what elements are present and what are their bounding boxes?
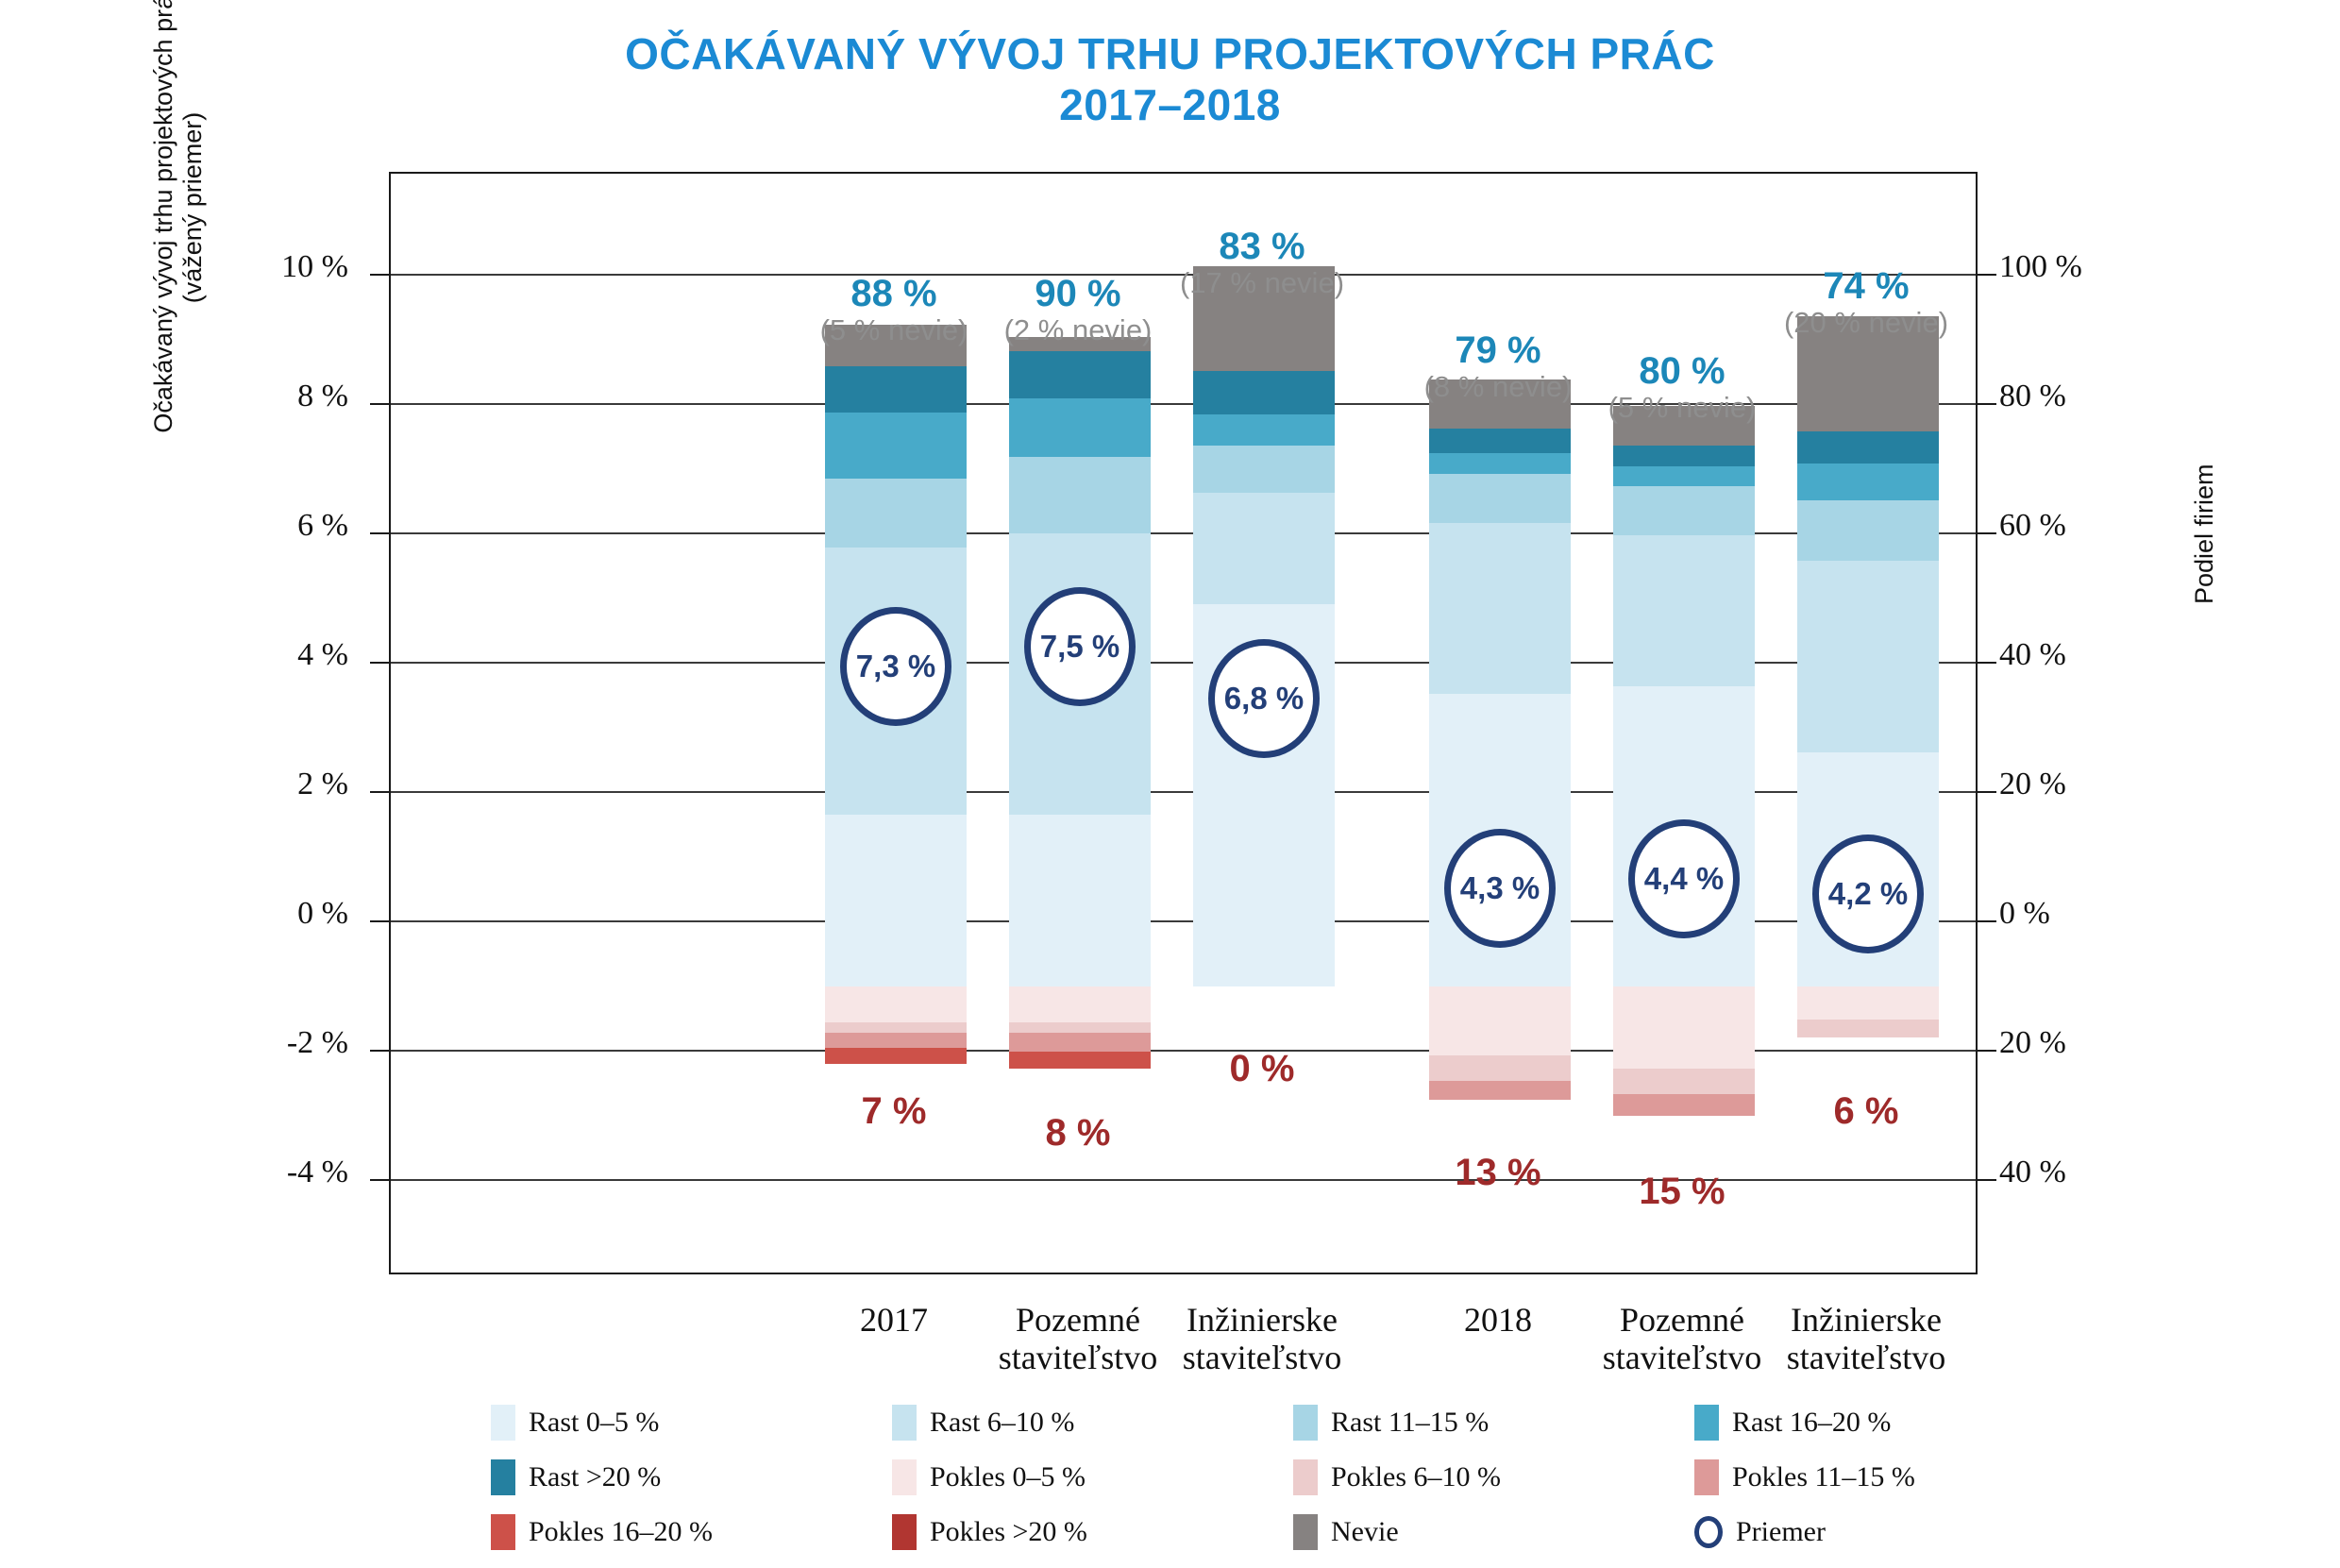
- x-axis-label-line1-5: Inžinierske: [1706, 1301, 2027, 1339]
- tick-right-2: [1976, 532, 1996, 534]
- growth-total-5: 74 %: [1696, 266, 2036, 307]
- legend-label: Pokles 16–20 %: [529, 1516, 713, 1548]
- y-axis-right-tick-3: 40 %: [1999, 637, 2207, 673]
- y-axis-left-tick-1: 8 %: [160, 379, 348, 414]
- tick-right-3: [1976, 662, 1996, 664]
- legend-label: Nevie: [1331, 1516, 1399, 1548]
- y-axis-right-tick-6: 20 %: [1999, 1025, 2207, 1061]
- bar-segment-rast-nad-20[interactable]: [825, 366, 967, 413]
- legend-swatch-icon: [491, 1405, 515, 1441]
- legend-item-pokles-16-20[interactable]: Pokles 16–20 %: [491, 1514, 892, 1550]
- legend-label: Priemer: [1736, 1516, 1826, 1548]
- tick-right-7: [1976, 1179, 1996, 1181]
- tick-left-3: [370, 662, 391, 664]
- bar-segment-pokles-16-20[interactable]: [825, 1048, 967, 1064]
- legend-label: Rast 16–20 %: [1732, 1407, 1891, 1439]
- bar-segment-pokles-0-5[interactable]: [825, 986, 967, 1022]
- bar-segment-pokles-0-5[interactable]: [1797, 986, 1939, 1020]
- legend-item-average-ring[interactable]: Priemer: [1694, 1514, 2096, 1550]
- tick-right-5: [1976, 920, 1996, 922]
- tick-right-1: [1976, 403, 1996, 405]
- y-axis-right-tick-2: 60 %: [1999, 508, 2207, 544]
- bar-segment-rast-nad-20[interactable]: [1009, 351, 1151, 398]
- x-axis-label-5: Inžinierskestaviteľstvo: [1706, 1301, 2027, 1377]
- legend-swatch-icon: [1293, 1514, 1318, 1550]
- legend-item-pokles-6-10[interactable]: Pokles 6–10 %: [1293, 1459, 1694, 1495]
- bar-segment-rast-11-15[interactable]: [1429, 474, 1571, 523]
- chart-legend: Rast 0–5 %Rast 6–10 %Rast 11–15 %Rast 16…: [491, 1405, 2096, 1550]
- bar-segment-pokles-0-5[interactable]: [1613, 986, 1755, 1069]
- nevie-note-4: (5 % nevie): [1512, 392, 1852, 423]
- y-axis-left-tick-5: 0 %: [160, 896, 348, 932]
- title-block: OČAKÁVANÝ VÝVOJ TRHU PROJEKTOVÝCH PRÁC 2…: [0, 28, 2340, 131]
- bar-segment-rast-6-10[interactable]: [1613, 535, 1755, 686]
- bar-segment-rast-11-15[interactable]: [1613, 486, 1755, 535]
- legend-item-pokles-11-15[interactable]: Pokles 11–15 %: [1694, 1459, 2096, 1495]
- growth-total-2: 83 %: [1092, 227, 1432, 267]
- x-axis-label-line2-5: staviteľstvo: [1706, 1339, 2027, 1376]
- tick-left-2: [370, 532, 391, 534]
- bar-segment-rast-6-10[interactable]: [1193, 493, 1335, 604]
- legend-item-rast-16-20[interactable]: Rast 16–20 %: [1694, 1405, 2096, 1441]
- x-axis-label-line2-2: staviteľstvo: [1102, 1339, 1423, 1376]
- bar-segment-rast-11-15[interactable]: [825, 479, 967, 548]
- bar-segment-pokles-6-10[interactable]: [825, 1022, 967, 1033]
- bar-segment-rast-16-20[interactable]: [1429, 453, 1571, 474]
- bar-segment-rast-nad-20[interactable]: [1193, 371, 1335, 414]
- decline-total-1: 8 %: [927, 1112, 1229, 1155]
- y-axis-right-tick-7: 40 %: [1999, 1155, 2207, 1190]
- tick-left-7: [370, 1179, 391, 1181]
- legend-item-rast-0-5[interactable]: Rast 0–5 %: [491, 1405, 892, 1441]
- bar-segment-rast-11-15[interactable]: [1009, 457, 1151, 533]
- decline-total-4: 15 %: [1531, 1171, 1833, 1213]
- bar-segment-rast-16-20[interactable]: [1193, 414, 1335, 446]
- legend-swatch-icon: [1293, 1459, 1318, 1495]
- bar-segment-rast-16-20[interactable]: [1797, 464, 1939, 500]
- legend-label: Pokles 0–5 %: [930, 1461, 1086, 1493]
- growth-total-4: 80 %: [1512, 351, 1852, 392]
- average-marker-3[interactable]: 4,3 %: [1444, 829, 1556, 948]
- legend-item-rast-nad-20[interactable]: Rast >20 %: [491, 1459, 892, 1495]
- nevie-note-1: (2 % nevie): [908, 314, 1248, 346]
- bar-segment-rast-6-10[interactable]: [1797, 561, 1939, 752]
- y-axis-left-tick-3: 4 %: [160, 637, 348, 673]
- y-axis-left-tick-4: 2 %: [160, 767, 348, 802]
- bar-segment-rast-16-20[interactable]: [825, 413, 967, 479]
- bar-segment-rast-6-10[interactable]: [1429, 523, 1571, 694]
- bar-segment-pokles-6-10[interactable]: [1429, 1055, 1571, 1081]
- legend-swatch-icon: [1694, 1405, 1719, 1441]
- legend-swatch-icon: [1694, 1459, 1719, 1495]
- y-axis-left-tick-0: 10 %: [160, 249, 348, 285]
- chart-title: OČAKÁVANÝ VÝVOJ TRHU PROJEKTOVÝCH PRÁC: [0, 28, 2340, 79]
- bar-segment-rast-0-5[interactable]: [1009, 815, 1151, 986]
- y-axis-right-tick-5: 0 %: [1999, 896, 2207, 932]
- legend-swatch-icon: [1293, 1405, 1318, 1441]
- y-axis-title-left-line1: Očakávaný vývoj trhu projektových prác: [149, 0, 177, 433]
- nevie-note-2: (17 % nevie): [1092, 267, 1432, 298]
- legend-item-rast-11-15[interactable]: Rast 11–15 %: [1293, 1405, 1694, 1441]
- bar-segment-pokles-0-5[interactable]: [1429, 986, 1571, 1055]
- tick-right-6: [1976, 1050, 1996, 1052]
- bar-segment-pokles-6-10[interactable]: [1009, 1022, 1151, 1033]
- y-axis-left-tick-7: -4 %: [160, 1155, 348, 1190]
- bar-segment-pokles-6-10[interactable]: [1797, 1020, 1939, 1037]
- legend-swatch-icon: [491, 1514, 515, 1550]
- legend-label: Rast 6–10 %: [930, 1407, 1074, 1439]
- bar-segment-rast-16-20[interactable]: [1613, 466, 1755, 486]
- average-marker-2[interactable]: 6,8 %: [1208, 639, 1320, 758]
- legend-swatch-icon: [892, 1405, 917, 1441]
- bar-segment-pokles-0-5[interactable]: [1009, 986, 1151, 1022]
- tick-left-0: [370, 274, 391, 276]
- legend-label: Pokles >20 %: [930, 1516, 1087, 1548]
- bar-segment-rast-nad-20[interactable]: [1797, 431, 1939, 464]
- legend-label: Rast >20 %: [529, 1461, 661, 1493]
- bar-segment-pokles-11-15[interactable]: [1429, 1081, 1571, 1100]
- legend-label: Rast 11–15 %: [1331, 1407, 1489, 1439]
- legend-swatch-icon: [892, 1459, 917, 1495]
- tick-left-1: [370, 403, 391, 405]
- growth-annotation-2: 83 %(17 % nevie): [1092, 227, 1432, 299]
- y-axis-right-tick-4: 20 %: [1999, 767, 2207, 802]
- y-axis-left-tick-6: -2 %: [160, 1025, 348, 1061]
- growth-annotation-5: 74 %(20 % nevie): [1696, 266, 2036, 339]
- legend-swatch-icon: [892, 1514, 917, 1550]
- bar-segment-rast-nad-20[interactable]: [1429, 429, 1571, 453]
- decline-total-2: 0 %: [1111, 1048, 1413, 1090]
- legend-swatch-icon: [491, 1459, 515, 1495]
- average-marker-1[interactable]: 7,5 %: [1024, 587, 1136, 706]
- average-marker-0[interactable]: 7,3 %: [840, 607, 951, 726]
- legend-item-rast-6-10[interactable]: Rast 6–10 %: [892, 1405, 1293, 1441]
- tick-left-5: [370, 920, 391, 922]
- average-ring-icon: [1694, 1516, 1723, 1548]
- bar-segment-pokles-11-15[interactable]: [825, 1033, 967, 1048]
- legend-label: Rast 0–5 %: [529, 1407, 659, 1439]
- tick-right-4: [1976, 791, 1996, 793]
- bar-segment-rast-11-15[interactable]: [1797, 500, 1939, 561]
- decline-total-5: 6 %: [1715, 1090, 2017, 1133]
- legend-item-pokles-0-5[interactable]: Pokles 0–5 %: [892, 1459, 1293, 1495]
- y-axis-right-tick-1: 80 %: [1999, 379, 2207, 414]
- legend-label: Pokles 11–15 %: [1732, 1461, 1915, 1493]
- nevie-note-5: (20 % nevie): [1696, 307, 2036, 338]
- y-axis-left-tick-2: 6 %: [160, 508, 348, 544]
- legend-label: Pokles 6–10 %: [1331, 1461, 1501, 1493]
- legend-item-pokles-nad-20[interactable]: Pokles >20 %: [892, 1514, 1293, 1550]
- tick-left-6: [370, 1050, 391, 1052]
- average-marker-5[interactable]: 4,2 %: [1812, 835, 1924, 953]
- legend-item-nevie[interactable]: Nevie: [1293, 1514, 1694, 1550]
- chart-subtitle: 2017–2018: [0, 79, 2340, 130]
- tick-left-4: [370, 791, 391, 793]
- bar-segment-rast-0-5[interactable]: [825, 815, 967, 986]
- bar-segment-rast-nad-20[interactable]: [1613, 446, 1755, 466]
- average-marker-4[interactable]: 4,4 %: [1628, 819, 1740, 938]
- bar-segment-rast-11-15[interactable]: [1193, 446, 1335, 493]
- bar-segment-rast-16-20[interactable]: [1009, 398, 1151, 457]
- growth-annotation-4: 80 %(5 % nevie): [1512, 351, 1852, 424]
